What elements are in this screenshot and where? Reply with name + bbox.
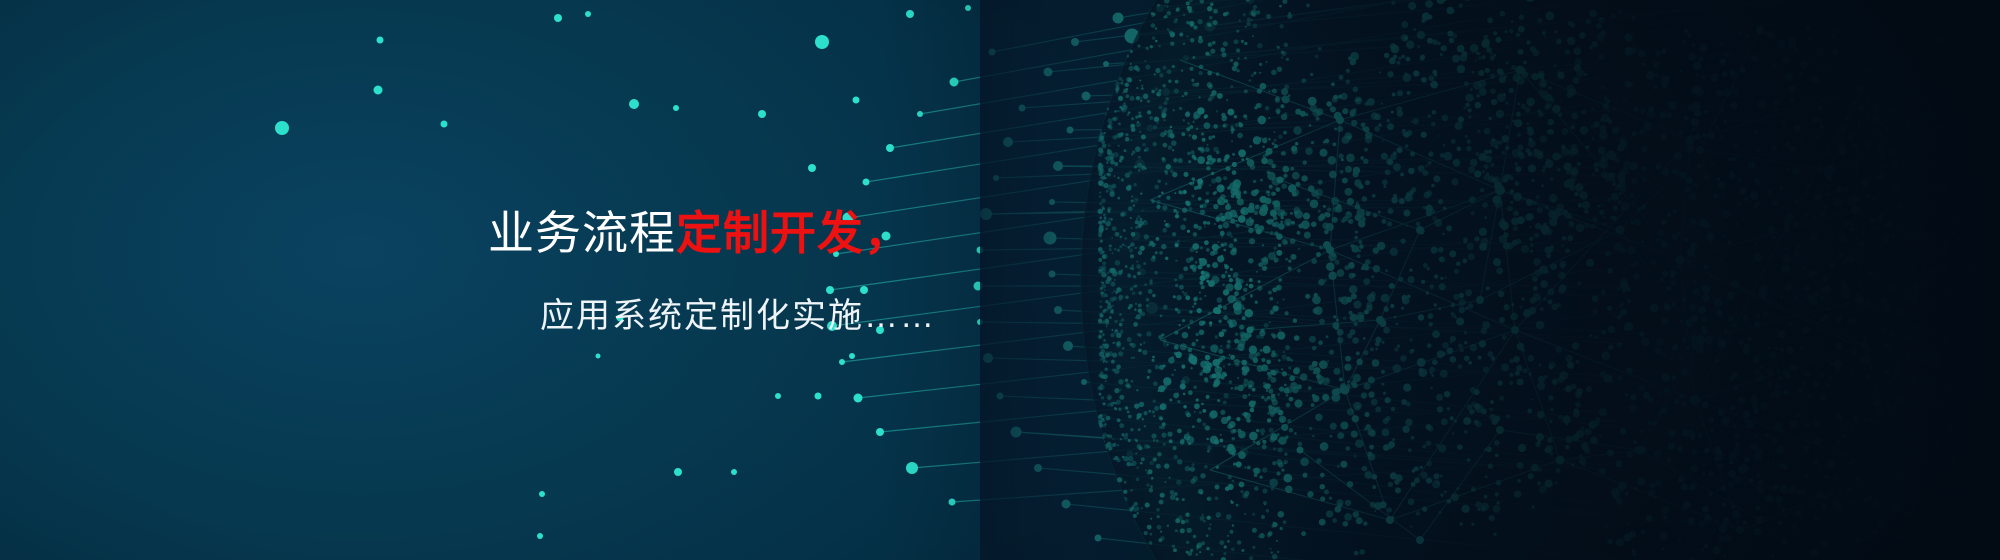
headline-line-2: 应用系统定制化实施…… [540,288,936,337]
headline-line-1: 业务流程定制开发， [488,206,936,260]
globe-network-graphic [0,0,2000,560]
headline-comma: ， [864,207,911,259]
headline-block: 业务流程定制开发， 应用系统定制化实施…… [488,206,936,337]
headline-accent-text: 定制开发 [676,207,864,259]
hero-banner: 业务流程定制开发， 应用系统定制化实施…… [0,0,2000,560]
headline-plain-text: 业务流程 [488,207,676,259]
